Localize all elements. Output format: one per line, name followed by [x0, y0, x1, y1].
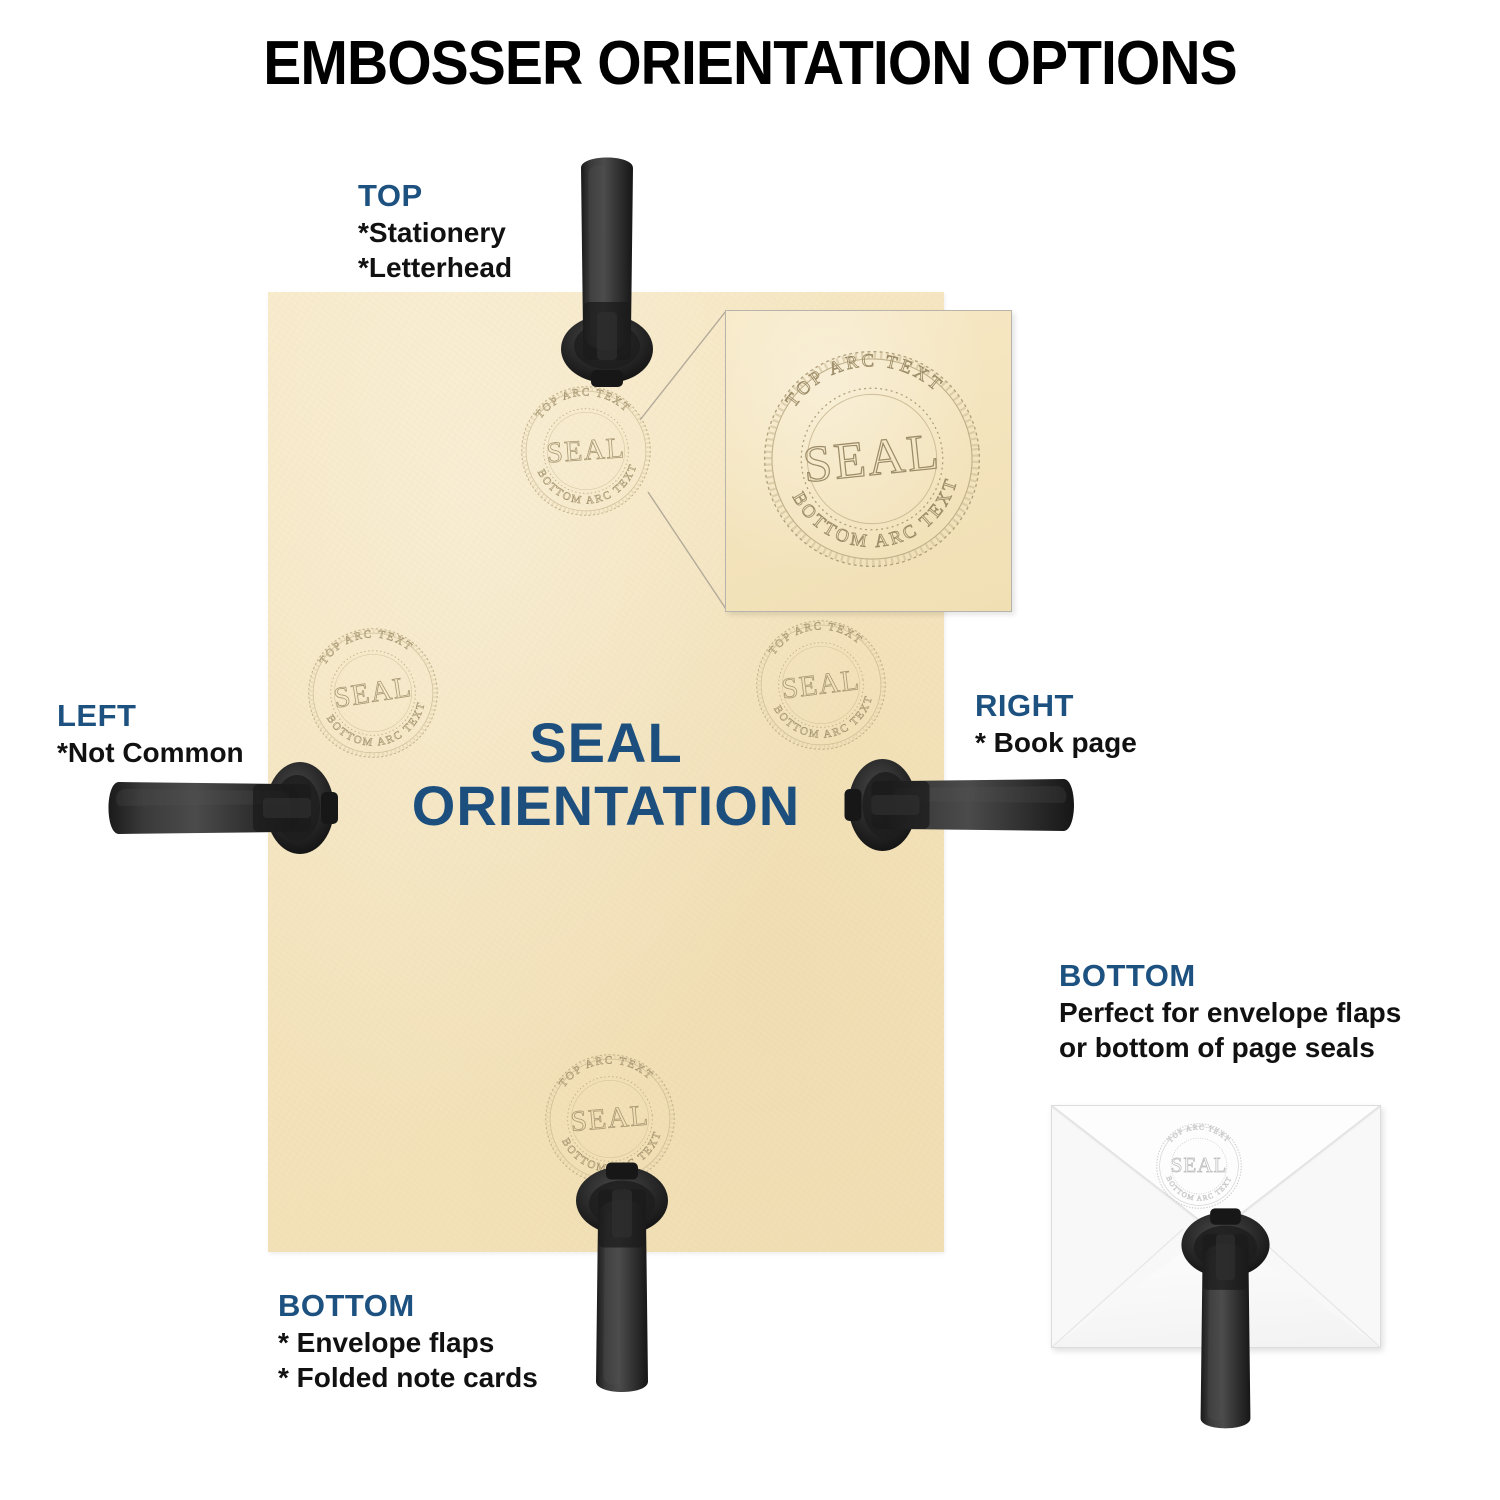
label-bottom-paper-heading: BOTTOM	[278, 1288, 538, 1325]
embosser-tool-bottom	[562, 1155, 682, 1405]
label-left-heading: LEFT	[57, 698, 244, 735]
label-right-line-1: * Book page	[975, 725, 1137, 760]
infographic-canvas: EMBOSSER ORIENTATION OPTIONS TOP ARC TEX…	[0, 0, 1500, 1500]
label-left: LEFT *Not Common	[57, 698, 244, 770]
label-right: RIGHT * Book page	[975, 688, 1137, 760]
page-title: EMBOSSER ORIENTATION OPTIONS	[60, 28, 1440, 99]
label-top-heading: TOP	[358, 178, 512, 215]
label-top-line-2: *Letterhead	[358, 250, 512, 285]
svg-text:TOP ARC TEXT: TOP ARC TEXT	[778, 342, 950, 412]
label-right-heading: RIGHT	[975, 688, 1137, 725]
label-left-line-1: *Not Common	[57, 735, 244, 770]
embosser-tool-top	[547, 152, 667, 387]
seal-impression-magnified: TOP ARC TEXT BOTTOM ARC TEXT SEAL	[738, 325, 1006, 593]
embosser-tool-envelope	[1168, 1196, 1283, 1446]
label-bottom-envelope: BOTTOM Perfect for envelope flaps or bot…	[1059, 958, 1401, 1065]
label-bottom-paper-line-1: * Envelope flaps	[278, 1325, 538, 1360]
label-bottom-paper-line-2: * Folded note cards	[278, 1360, 538, 1395]
label-bottom-envelope-line-1: Perfect for envelope flaps	[1059, 995, 1401, 1030]
svg-text:BOTTOM ARC TEXT: BOTTOM ARC TEXT	[788, 472, 968, 559]
label-bottom-envelope-heading: BOTTOM	[1059, 958, 1401, 995]
embosser-tool-right	[838, 745, 1086, 865]
svg-text:SEAL: SEAL	[800, 423, 943, 494]
label-top: TOP *Stationery *Letterhead	[358, 178, 512, 285]
label-top-line-1: *Stationery	[358, 215, 512, 250]
label-bottom-paper: BOTTOM * Envelope flaps * Folded note ca…	[278, 1288, 538, 1395]
magnifier-callout: TOP ARC TEXT BOTTOM ARC TEXT SEAL	[725, 310, 1012, 612]
label-bottom-envelope-line-2: or bottom of page seals	[1059, 1030, 1401, 1065]
